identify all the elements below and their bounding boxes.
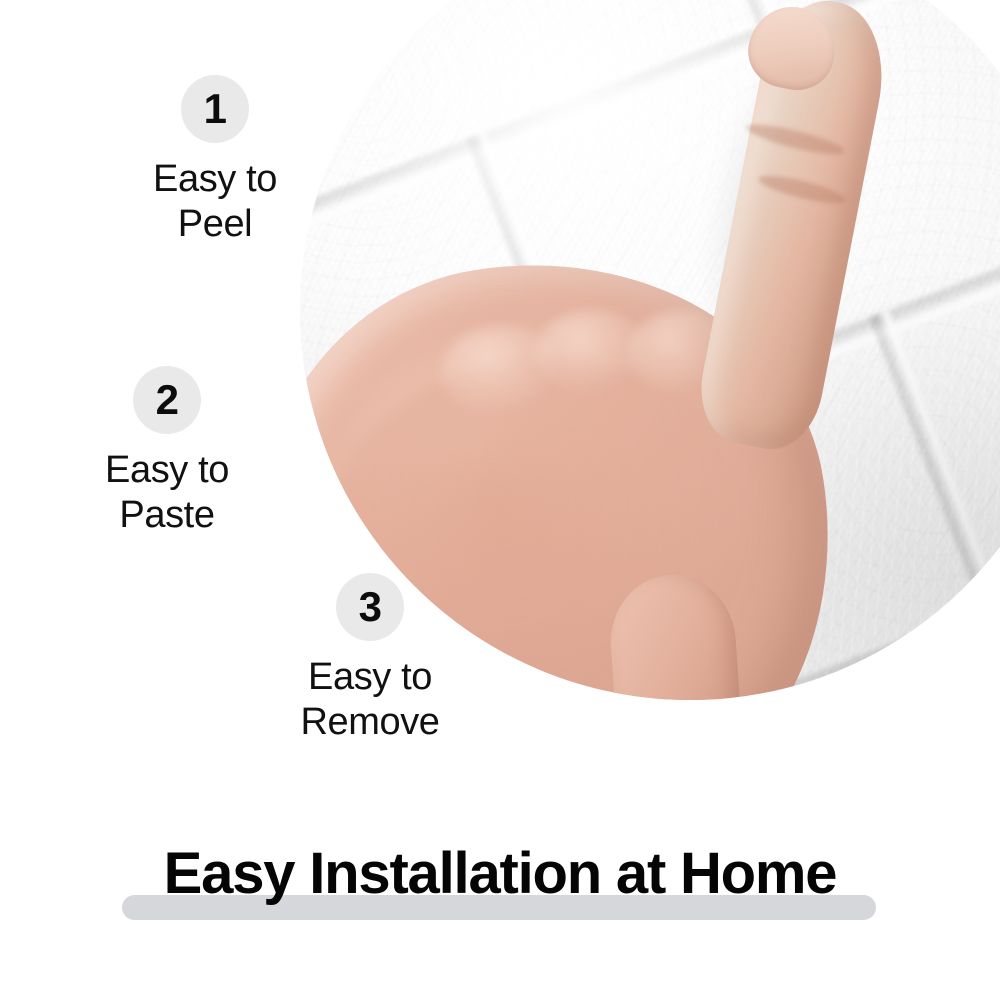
- step-2-label: Easy to Paste: [37, 448, 297, 538]
- step-3-number-badge: 3: [336, 573, 404, 641]
- headline-title: Easy Installation at Home: [0, 845, 1000, 903]
- step-1-number-badge: 1: [181, 75, 249, 143]
- step-3: 3 Easy to Remove: [240, 573, 500, 745]
- step-1-number: 1: [204, 88, 227, 130]
- step-3-label: Easy to Remove: [240, 655, 500, 745]
- product-infographic-poster: 1 Easy to Peel 2 Easy to Paste 3 Easy to…: [0, 0, 1000, 1000]
- step-2-number-badge: 2: [133, 366, 201, 434]
- step-2: 2 Easy to Paste: [37, 366, 297, 538]
- step-3-number: 3: [359, 586, 382, 628]
- step-2-number: 2: [156, 379, 179, 421]
- headline-section: Easy Installation at Home: [0, 845, 1000, 955]
- step-1-label: Easy to Peel: [85, 157, 345, 247]
- step-1: 1 Easy to Peel: [85, 75, 345, 247]
